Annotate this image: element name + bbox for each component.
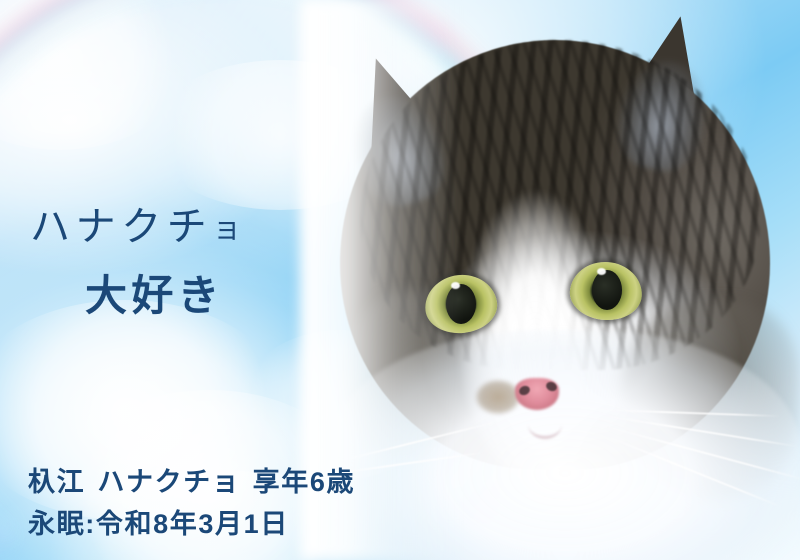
- memorial-line-rest-date: 永眠:令和8年3月1日: [28, 504, 355, 546]
- memorial-overlay: 杁江ハナクチョ享年6歳 永眠:令和8年3月1日: [28, 462, 355, 546]
- memorial-pet-name: ハナクチョ: [97, 467, 240, 497]
- pet-memorial-card: ハナクチョ 大好き 杁江ハナクチョ享年6歳 永眠:令和8年3月1日: [0, 0, 800, 560]
- title-line-2: 大好き: [85, 273, 330, 319]
- memorial-separator: :: [85, 509, 96, 539]
- memorial-age: 享年6歳: [253, 467, 356, 497]
- memorial-surname: 杁江: [28, 467, 85, 497]
- title-line-1-small-kana: ョ: [212, 213, 247, 245]
- title-line-1-main: ハナクチ: [30, 205, 212, 249]
- title-overlay: ハナクチョ 大好き: [0, 205, 330, 319]
- title-line-1: ハナクチョ: [30, 205, 330, 249]
- memorial-rest-label: 永眠: [28, 509, 85, 539]
- memorial-date: 令和8年3月1日: [96, 509, 289, 539]
- memorial-line-name-age: 杁江ハナクチョ享年6歳: [28, 462, 355, 504]
